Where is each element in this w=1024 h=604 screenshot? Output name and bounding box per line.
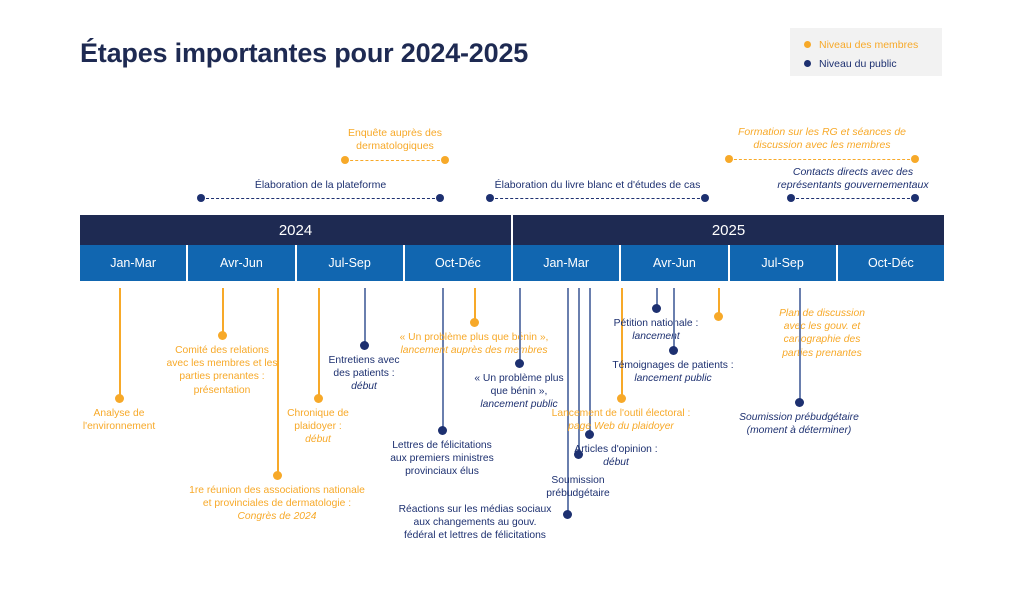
span-cap-start-icon <box>787 194 795 202</box>
span-cap-end-icon <box>436 194 444 202</box>
event-dot-icon <box>470 318 479 327</box>
span-cap-start-icon <box>725 155 733 163</box>
span-label-line: Contacts directs avec des <box>728 166 978 179</box>
span-line <box>345 160 445 161</box>
span-cap-end-icon <box>911 155 919 163</box>
event-label: Lancement de l'outil électoral : page We… <box>530 407 712 433</box>
event-dot-icon <box>438 426 447 435</box>
event-dot-icon <box>273 471 282 480</box>
legend-item-member: Niveau des membres <box>804 36 942 53</box>
legend-dot-member-icon <box>804 41 811 48</box>
event-dot-icon <box>515 359 524 368</box>
event-dot-icon <box>652 304 661 313</box>
span-cap-start-icon <box>197 194 205 202</box>
span-label-line: dermatologiques <box>295 140 495 153</box>
event-dot-icon <box>669 346 678 355</box>
quarter-cell-2024-q3[interactable]: Jul-Sep <box>297 245 405 281</box>
event-dot-icon <box>795 398 804 407</box>
span-cap-end-icon <box>911 194 919 202</box>
quarter-cell-2025-q1[interactable]: Jan-Mar <box>513 245 621 281</box>
year-bar: 2024 2025 <box>80 215 944 245</box>
legend-item-public: Niveau du public <box>804 55 942 72</box>
event-label: Entretiens avec des patients : début <box>284 354 444 394</box>
quarter-bar: Jan-Mar Avr-Jun Jul-Sep Oct-Déc Jan-Mar … <box>80 245 944 281</box>
span-cap-end-icon <box>441 156 449 164</box>
event-dot-icon <box>314 394 323 403</box>
quarter-cell-2024-q2[interactable]: Avr-Jun <box>188 245 296 281</box>
event-label: 1re réunion des associations nationale e… <box>160 484 394 524</box>
event-stem <box>799 288 801 402</box>
legend-label-member: Niveau des membres <box>819 39 918 51</box>
page-title: Étapes importantes pour 2024-2025 <box>80 38 528 69</box>
span-line <box>490 198 705 199</box>
span-line <box>201 198 440 199</box>
event-label: Lettres de félicitations aux premiers mi… <box>348 439 536 479</box>
legend-dot-public-icon <box>804 60 811 67</box>
span-label-line: Élaboration de la plateforme <box>171 179 470 192</box>
legend: Niveau des membres Niveau du public <box>790 28 942 76</box>
timeline-infographic: Étapes importantes pour 2024-2025 Niveau… <box>0 0 1024 604</box>
event-stem <box>673 288 675 350</box>
quarter-cell-2025-q3[interactable]: Jul-Sep <box>730 245 838 281</box>
span-cap-end-icon <box>701 194 709 202</box>
span-label-line: Enquête auprès des <box>295 127 495 140</box>
event-stem <box>277 288 279 475</box>
quarter-cell-2025-q4[interactable]: Oct-Déc <box>838 245 944 281</box>
event-label: Soumission prébudgétaire (moment à déter… <box>709 411 889 437</box>
event-stem <box>519 288 521 363</box>
event-label: Réactions sur les médias sociaux aux cha… <box>385 503 565 543</box>
event-label: Articles d'opinion : début <box>536 443 696 469</box>
event-label: « Un problème plus que bénin », lancemen… <box>364 331 584 357</box>
year-cell-2025: 2025 <box>513 215 944 245</box>
event-dot-icon <box>218 331 227 340</box>
span-label-line: discussion avec les membres <box>686 139 958 152</box>
year-cell-2024: 2024 <box>80 215 513 245</box>
span-label-line: représentants gouvernementaux <box>728 179 978 192</box>
event-label: Analyse de l'environnement <box>34 407 204 433</box>
span-label-line: Élaboration du livre blanc et d'études d… <box>450 179 745 192</box>
legend-label-public: Niveau du public <box>819 58 897 70</box>
event-stem <box>222 288 224 335</box>
quarter-cell-2024-q4[interactable]: Oct-Déc <box>405 245 513 281</box>
event-label: « Un problème plus que bénin », lancemen… <box>439 372 599 412</box>
quarter-cell-2025-q2[interactable]: Avr-Jun <box>621 245 729 281</box>
span-line <box>729 159 915 160</box>
span-cap-start-icon <box>486 194 494 202</box>
event-label: Soumission prébudgétaire <box>518 474 638 500</box>
span-line <box>791 198 915 199</box>
event-label: Témoignages de patients : lancement publ… <box>576 359 770 385</box>
event-dot-icon <box>617 394 626 403</box>
quarter-cell-2024-q1[interactable]: Jan-Mar <box>80 245 188 281</box>
span-label-line: Formation sur les RG et séances de <box>686 126 958 139</box>
event-label: Pétition nationale : lancement <box>564 317 748 343</box>
event-label: Plan de discussion avec les gouv. et car… <box>732 307 912 360</box>
span-cap-start-icon <box>341 156 349 164</box>
event-stem <box>474 288 476 322</box>
